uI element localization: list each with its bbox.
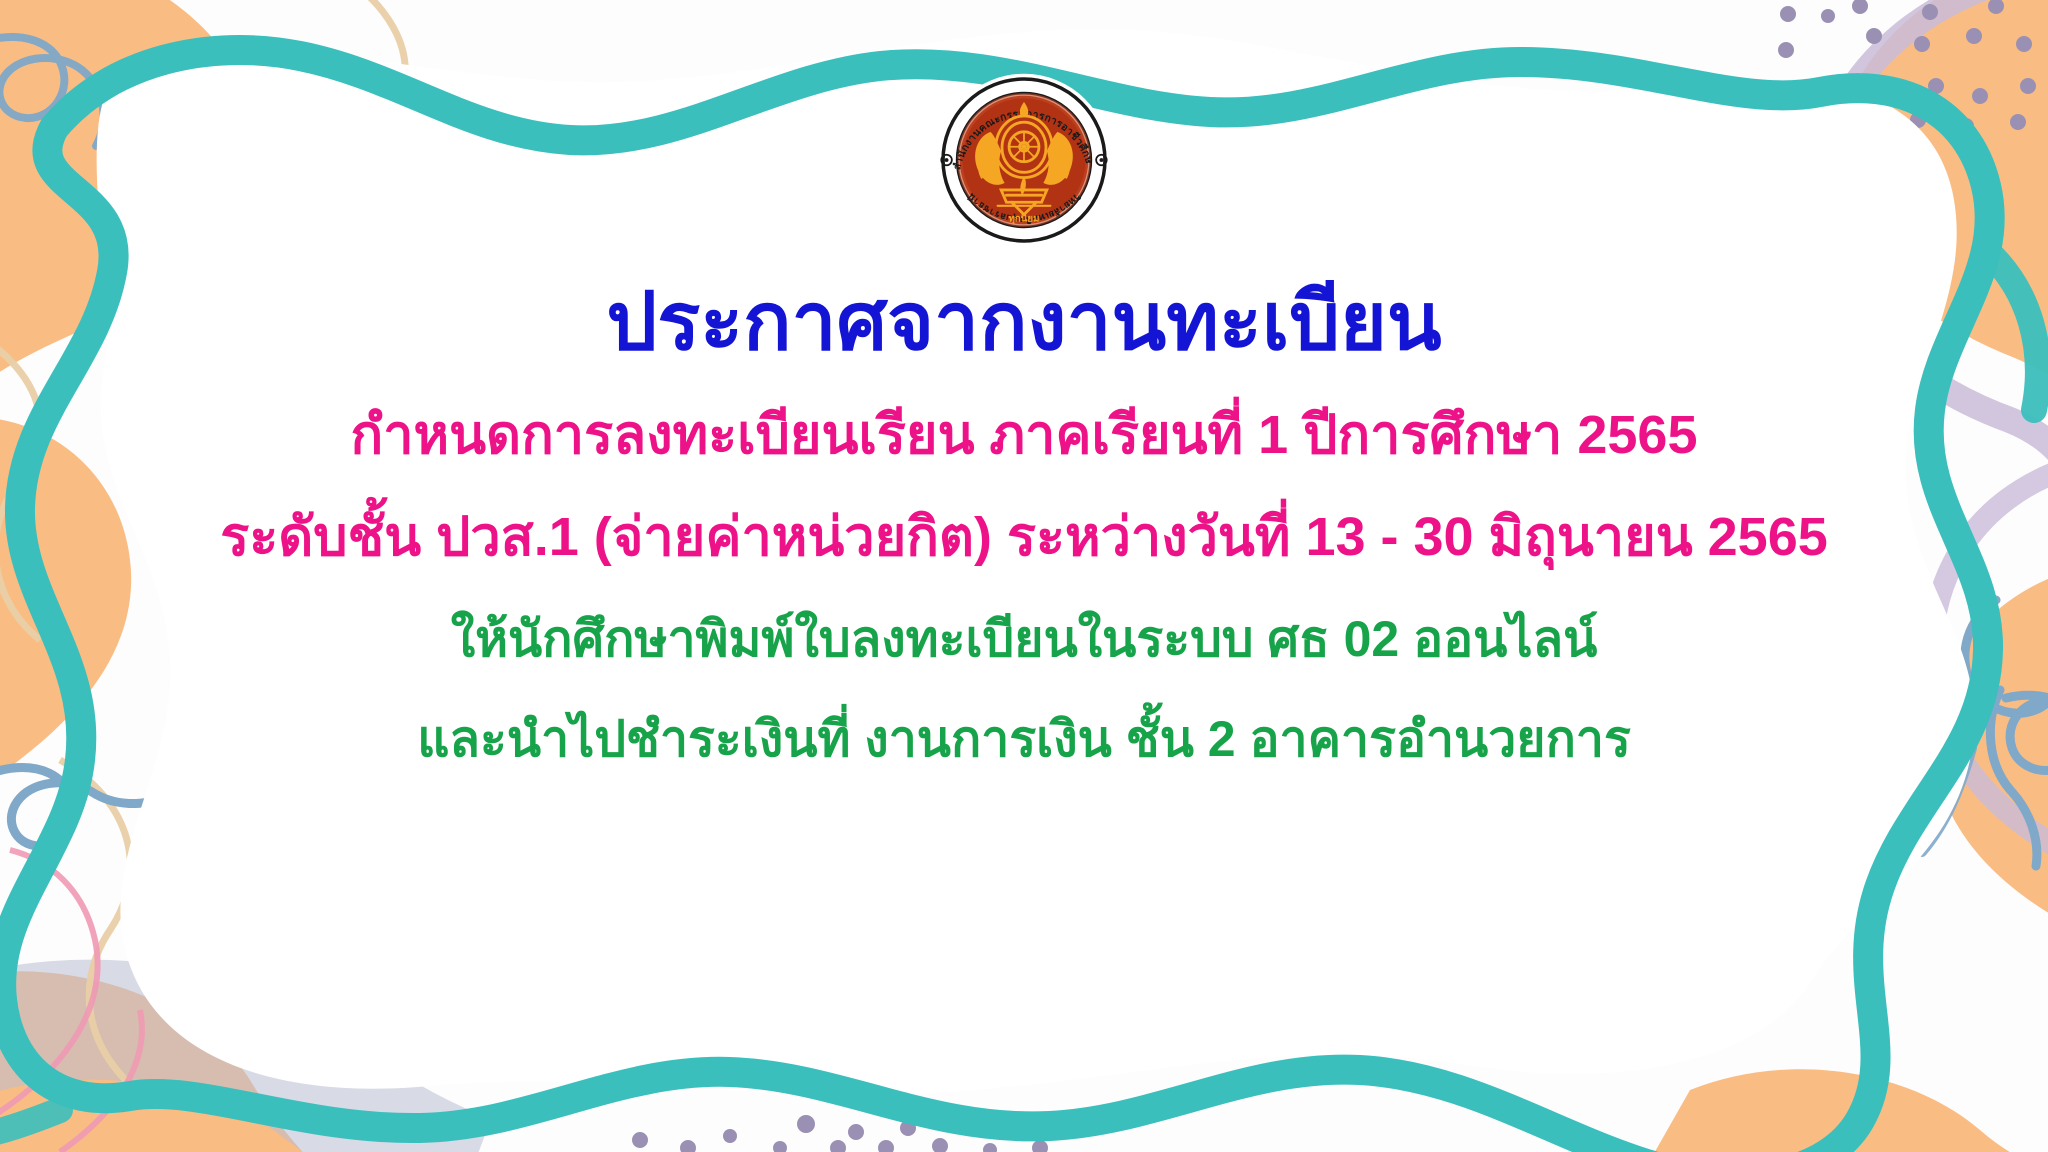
logo-center-text: ทุกนิยม [1009,213,1040,225]
body-line-4: และนำไปชำระเงินที่ งานการเงิน ชั้น 2 อาค… [417,714,1631,764]
poster-content: สำนักงานคณะกรรมการการอาชีวศึกษา วิทยาลัย… [0,0,2048,1152]
body-line-3: ให้นักศึกษาพิมพ์ใบลงทะเบียนในระบบ ศธ 02 … [451,614,1598,664]
body-line-2: ระดับชั้น ปวส.1 (จ่ายค่าหน่วยกิต) ระหว่า… [220,510,1828,564]
college-logo: สำนักงานคณะกรรมการการอาชีวศึกษา วิทยาลัย… [936,72,1112,248]
college-logo-svg: สำนักงานคณะกรรมการการอาชีวศึกษา วิทยาลัย… [936,72,1112,248]
announcement-poster: สำนักงานคณะกรรมการการอาชีวศึกษา วิทยาลัย… [0,0,2048,1152]
body-line-1: กำหนดการลงทะเบียนเรียน ภาคเรียนที่ 1 ปีก… [351,408,1698,462]
page-title: ประกาศจากงานทะเบียน [606,282,1441,362]
